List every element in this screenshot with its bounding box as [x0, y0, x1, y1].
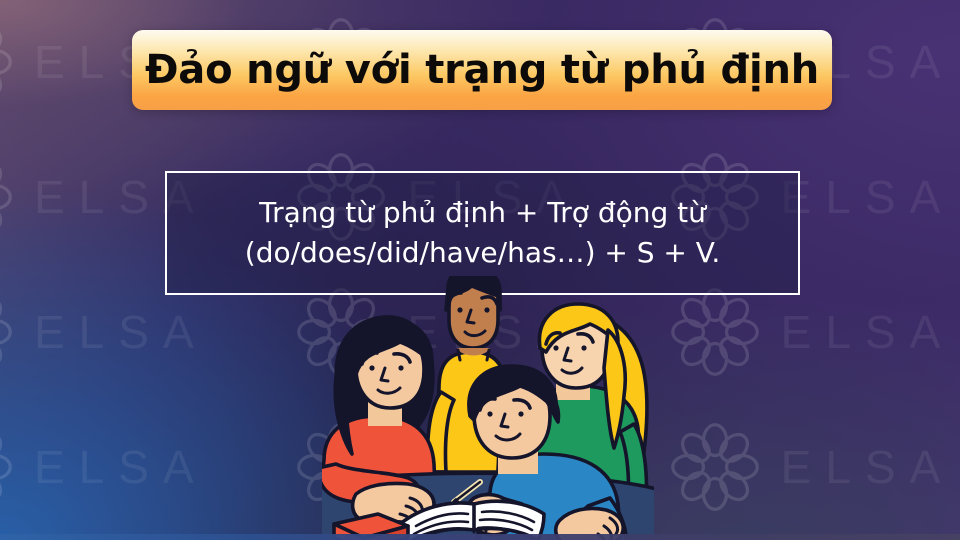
- watermark-cell: ELSA: [667, 399, 960, 534]
- bottom-accent-strip: [0, 534, 960, 540]
- formula-line-2: (do/does/did/have/has…) + S + V.: [245, 233, 720, 273]
- watermark-cell: ELSA: [0, 399, 213, 534]
- elsa-rosette-icon: [0, 284, 16, 380]
- title-banner: Đảo ngữ với trạng từ phủ định: [132, 30, 832, 110]
- four-students-studying-illustration: [322, 276, 654, 540]
- elsa-rosette-icon: [0, 14, 16, 110]
- elsa-rosette-icon: [667, 419, 763, 515]
- slide-canvas: ELSA ELSA ELSA ELSA: [0, 0, 960, 540]
- watermark-brand-text: ELSA: [34, 309, 208, 355]
- watermark-brand-text: ELSA: [781, 174, 955, 220]
- watermark-brand-text: ELSA: [781, 444, 955, 490]
- formula-line-1: Trạng từ phủ định + Trợ động từ: [259, 193, 706, 233]
- watermark-brand-text: ELSA: [781, 309, 955, 355]
- page-title: Đảo ngữ với trạng từ phủ định: [145, 50, 819, 90]
- elsa-rosette-icon: [0, 419, 16, 515]
- elsa-rosette-icon: [0, 149, 16, 245]
- watermark-brand-text: ELSA: [34, 444, 208, 490]
- elsa-rosette-icon: [667, 284, 763, 380]
